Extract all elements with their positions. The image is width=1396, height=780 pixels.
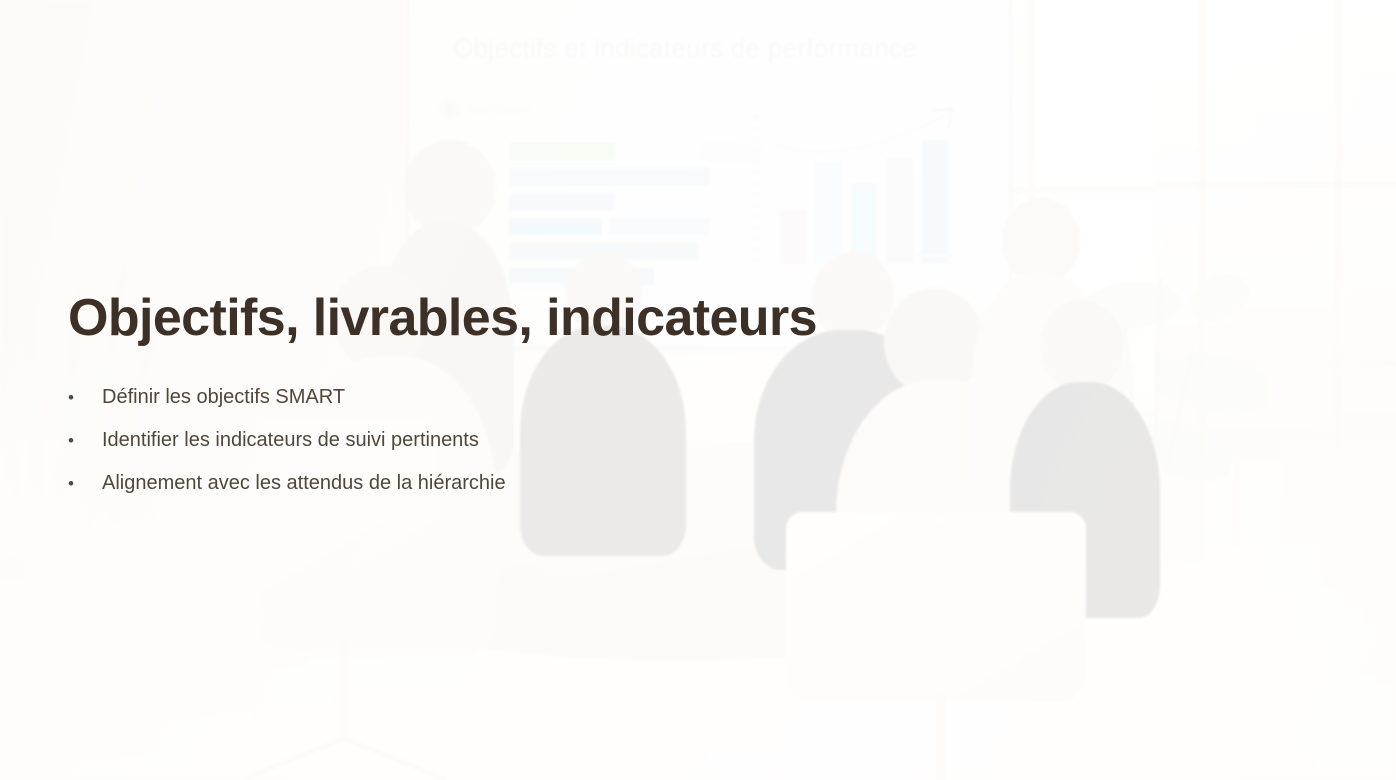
bullet-marker-icon: • bbox=[68, 475, 102, 492]
bullet-marker-icon: • bbox=[68, 432, 102, 449]
bullet-item: •Alignement avec les attendus de la hiér… bbox=[68, 472, 768, 515]
bullet-text: Identifier les indicateurs de suivi pert… bbox=[102, 429, 479, 452]
bullet-list: •Définir les objectifs SMART•Identifier … bbox=[68, 386, 768, 515]
page-title: Objectifs, livrables, indicateurs bbox=[68, 288, 817, 348]
bullet-item: •Identifier les indicateurs de suivi per… bbox=[68, 429, 768, 472]
slide: Objectifs et indicateurs de performance … bbox=[0, 0, 1396, 780]
slide-content: Objectifs, livrables, indicateurs •Défin… bbox=[0, 0, 1396, 780]
bullet-marker-icon: • bbox=[68, 389, 102, 406]
bullet-text: Alignement avec les attendus de la hiéra… bbox=[102, 472, 506, 495]
bullet-text: Définir les objectifs SMART bbox=[102, 386, 345, 409]
bullet-item: •Définir les objectifs SMART bbox=[68, 386, 768, 429]
